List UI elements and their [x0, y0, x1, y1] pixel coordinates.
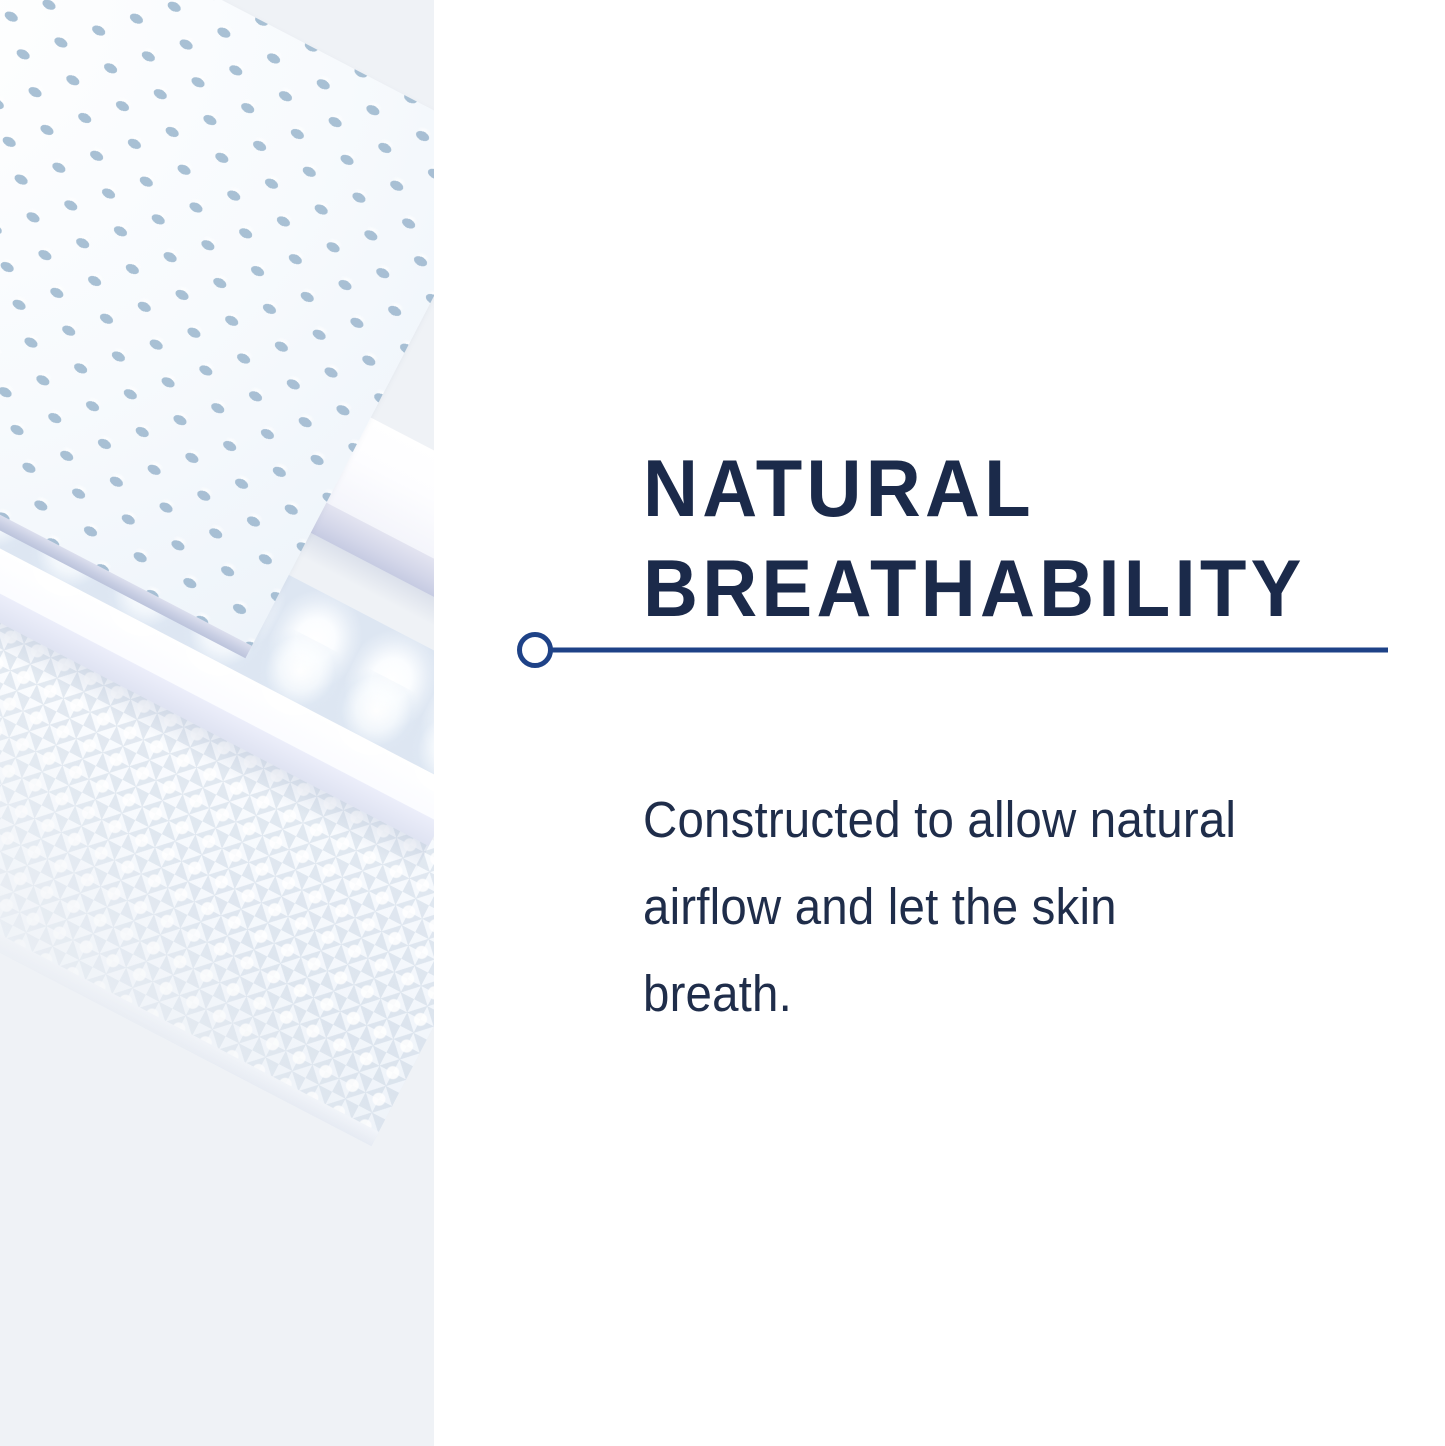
divider-graphic	[516, 631, 1388, 669]
body-line-1: Constructed to allow natural	[643, 791, 1236, 848]
body-description: Constructed to allow natural airflow and…	[643, 776, 1294, 1037]
content-column: NATURAL BREATHABILITY Constructed to all…	[643, 0, 1403, 1446]
infographic-canvas: NATURAL BREATHABILITY Constructed to all…	[0, 0, 1445, 1446]
body-line-2: airflow and let the skin	[643, 878, 1117, 935]
circle-line-divider	[516, 631, 1388, 669]
divider-circle-icon	[520, 635, 551, 666]
illustration-right-mask	[434, 0, 500, 1446]
page-title: NATURAL BREATHABILITY	[643, 440, 1339, 639]
product-layer-illustration	[0, 0, 500, 1446]
headline-line-1: NATURAL	[643, 440, 1339, 540]
body-line-3: breath.	[643, 965, 792, 1022]
headline-line-2: BREATHABILITY	[643, 540, 1339, 640]
